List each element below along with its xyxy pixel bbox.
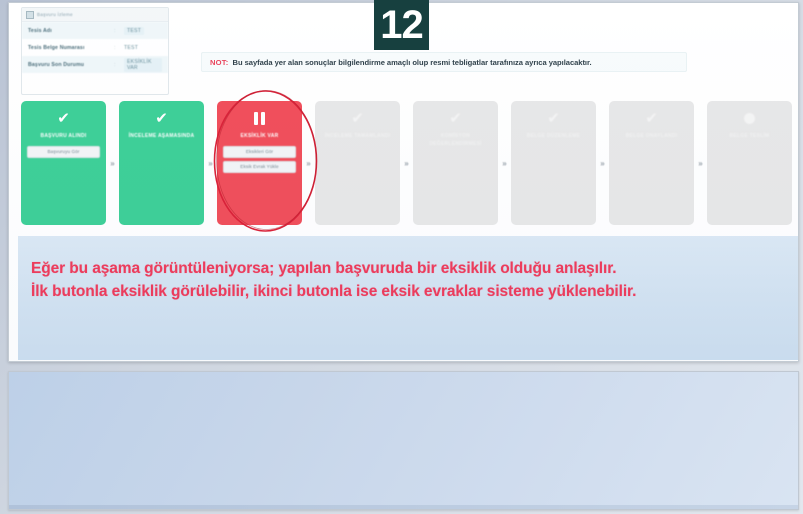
application-page-panel: Başvuru İzleme Tesis Adı : TEST Tesis Be… xyxy=(8,2,799,362)
informational-note-banner: NOT: Bu sayfada yer alan sonuçlar bilgil… xyxy=(201,52,687,72)
chevron-right-icon: » xyxy=(596,101,609,225)
check-icon: ✔ xyxy=(149,110,175,127)
stage-card-belge-duzenleme[interactable]: ✔ BELGE DÜZENLEME xyxy=(511,101,596,225)
stage-card-eksiklik-var[interactable]: EKSİKLİK VAR Eksikleri Gör Eksik Evrak Y… xyxy=(217,101,302,225)
info-label: Başvuru Son Durumu xyxy=(28,62,114,68)
stage-title: EKSİKLİK VAR xyxy=(236,133,284,141)
chevron-right-icon: » xyxy=(204,101,217,225)
info-label: Tesis Adı xyxy=(28,28,114,34)
check-icon: ✔ xyxy=(51,110,77,127)
panel-bottom-strip xyxy=(9,505,798,509)
stage-title: BELGE TESLİM xyxy=(725,133,775,141)
annotation-line-2: İlk butonla eksiklik görülebilir, ikinci… xyxy=(31,283,636,301)
check-icon: ✔ xyxy=(639,110,665,127)
stage-button-group: Eksikleri Gör Eksik Evrak Yükle xyxy=(217,146,302,176)
chevron-right-icon: » xyxy=(498,101,511,225)
chevron-right-icon: » xyxy=(400,101,413,225)
annotation-line-1: Eğer bu aşama görüntüleniyorsa; yapılan … xyxy=(31,260,616,278)
info-separator: : xyxy=(114,62,124,68)
info-value: TEST xyxy=(124,45,138,51)
circle-icon xyxy=(737,110,763,127)
pause-icon xyxy=(247,110,273,127)
note-prefix: NOT: xyxy=(210,58,229,67)
facility-info-card: Başvuru İzleme Tesis Adı : TEST Tesis Be… xyxy=(21,7,169,95)
info-row-document-number: Tesis Belge Numarası : TEST xyxy=(22,39,168,56)
info-value: TEST xyxy=(124,27,144,35)
stage-title: BELGE ONAYLANDI xyxy=(621,133,683,141)
info-row-application-status: Başvuru Son Durumu : EKSİKLİK VAR xyxy=(22,56,168,73)
stage-card-komisyon-degerlendirmesi[interactable]: ✔ KOMİSYON DEĞERLENDİRMESİ xyxy=(413,101,498,225)
stage-title: İNCELEME AŞAMASINDA xyxy=(124,133,200,141)
info-separator: : xyxy=(114,28,124,34)
chevron-right-icon: » xyxy=(106,101,119,225)
note-text: Bu sayfada yer alan sonuçlar bilgilendir… xyxy=(233,58,592,67)
stage-button-group: Başvuruyu Gör xyxy=(21,146,106,161)
stage-title: BELGE DÜZENLEME xyxy=(522,133,585,141)
check-icon: ✔ xyxy=(345,110,371,127)
check-icon: ✔ xyxy=(443,110,469,127)
view-application-button[interactable]: Başvuruyu Gör xyxy=(27,146,100,158)
info-row-facility-name: Tesis Adı : TEST xyxy=(22,22,168,39)
application-stage-flow: ✔ BAŞVURU ALINDI Başvuruyu Gör » ✔ İNCEL… xyxy=(21,101,789,225)
stage-card-inceleme-tamamlandi[interactable]: ✔ İNCELEME TAMAMLANDI xyxy=(315,101,400,225)
info-card-title: Başvuru İzleme xyxy=(37,12,73,17)
chevron-right-icon: » xyxy=(302,101,315,225)
table-icon xyxy=(26,11,34,19)
lower-empty-panel xyxy=(8,371,799,510)
status-badge: EKSİKLİK VAR xyxy=(124,58,162,72)
chevron-right-icon: » xyxy=(694,101,707,225)
stage-title: İNCELEME TAMAMLANDI xyxy=(320,133,396,141)
upload-missing-document-button[interactable]: Eksik Evrak Yükle xyxy=(223,161,296,173)
stage-card-belge-onaylandi[interactable]: ✔ BELGE ONAYLANDI xyxy=(609,101,694,225)
stage-card-inceleme-asamasinda[interactable]: ✔ İNCELEME AŞAMASINDA xyxy=(119,101,204,225)
view-deficiencies-button[interactable]: Eksikleri Gör xyxy=(223,146,296,158)
info-separator: : xyxy=(114,45,124,51)
info-label: Tesis Belge Numarası xyxy=(28,45,114,51)
annotation-band: Eğer bu aşama görüntüleniyorsa; yapılan … xyxy=(18,236,799,360)
check-icon: ✔ xyxy=(541,110,567,127)
stage-title: BAŞVURU ALINDI xyxy=(35,133,91,141)
info-card-header: Başvuru İzleme xyxy=(22,8,168,22)
step-number-badge: 12 xyxy=(374,0,429,50)
stage-title: KOMİSYON DEĞERLENDİRMESİ xyxy=(413,133,498,148)
stage-card-belge-teslim[interactable]: BELGE TESLİM xyxy=(707,101,792,225)
stage-card-basvuru-alindi[interactable]: ✔ BAŞVURU ALINDI Başvuruyu Gör xyxy=(21,101,106,225)
